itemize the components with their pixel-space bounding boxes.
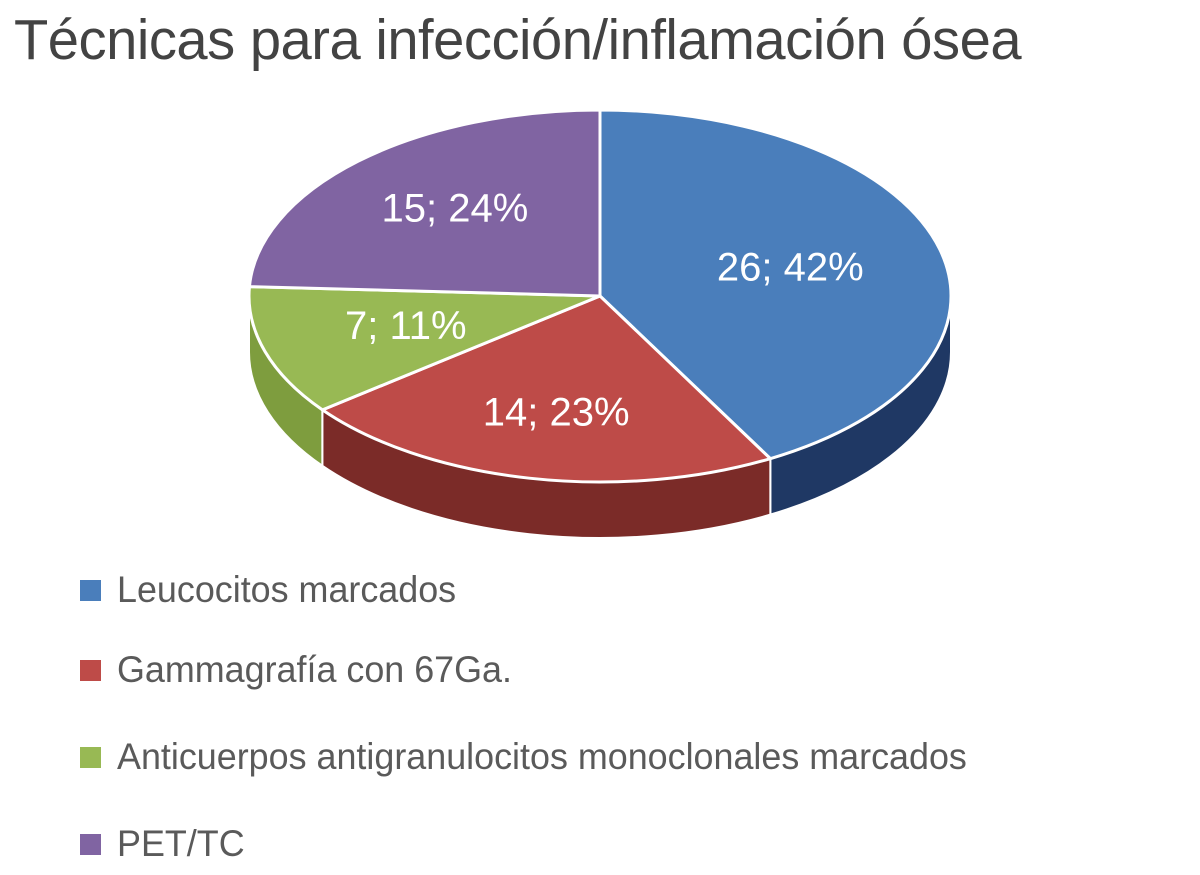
legend-swatch-icon	[80, 580, 101, 601]
page-title: Técnicas para infección/inflamación ósea	[14, 2, 1176, 78]
pie-chart-svg: 26; 42%14; 23%7; 11%15; 24%	[0, 86, 1200, 546]
legend-swatch-icon	[80, 834, 101, 855]
legend-item-label: Anticuerpos antigranulocitos monoclonale…	[117, 737, 967, 777]
legend-item-label: Gammagrafía con 67Ga.	[117, 650, 512, 690]
pie-chart: 26; 42%14; 23%7; 11%15; 24%	[0, 86, 1200, 546]
legend-item-pet-tc[interactable]: PET/TC	[80, 816, 249, 872]
pie-slice-label: 26; 42%	[717, 245, 864, 289]
legend-item-leucocitos-marcados[interactable]: Leucocitos marcados	[80, 562, 467, 618]
pie-slice-label: 14; 23%	[483, 391, 630, 435]
pie-slice-label: 15; 24%	[382, 187, 529, 231]
legend-item-gammagrafia-67ga[interactable]: Gammagrafía con 67Ga.	[80, 642, 524, 698]
pie-slice-label: 7; 11%	[345, 304, 467, 348]
legend-item-label: Leucocitos marcados	[117, 570, 456, 610]
legend-swatch-icon	[80, 747, 101, 768]
chart-legend: Leucocitos marcados Gammagrafía con 67Ga…	[0, 552, 1200, 872]
legend-item-anticuerpos-antigranulocitos[interactable]: Anticuerpos antigranulocitos monoclonale…	[80, 729, 993, 785]
legend-item-label: PET/TC	[117, 824, 245, 864]
legend-swatch-icon	[80, 660, 101, 681]
